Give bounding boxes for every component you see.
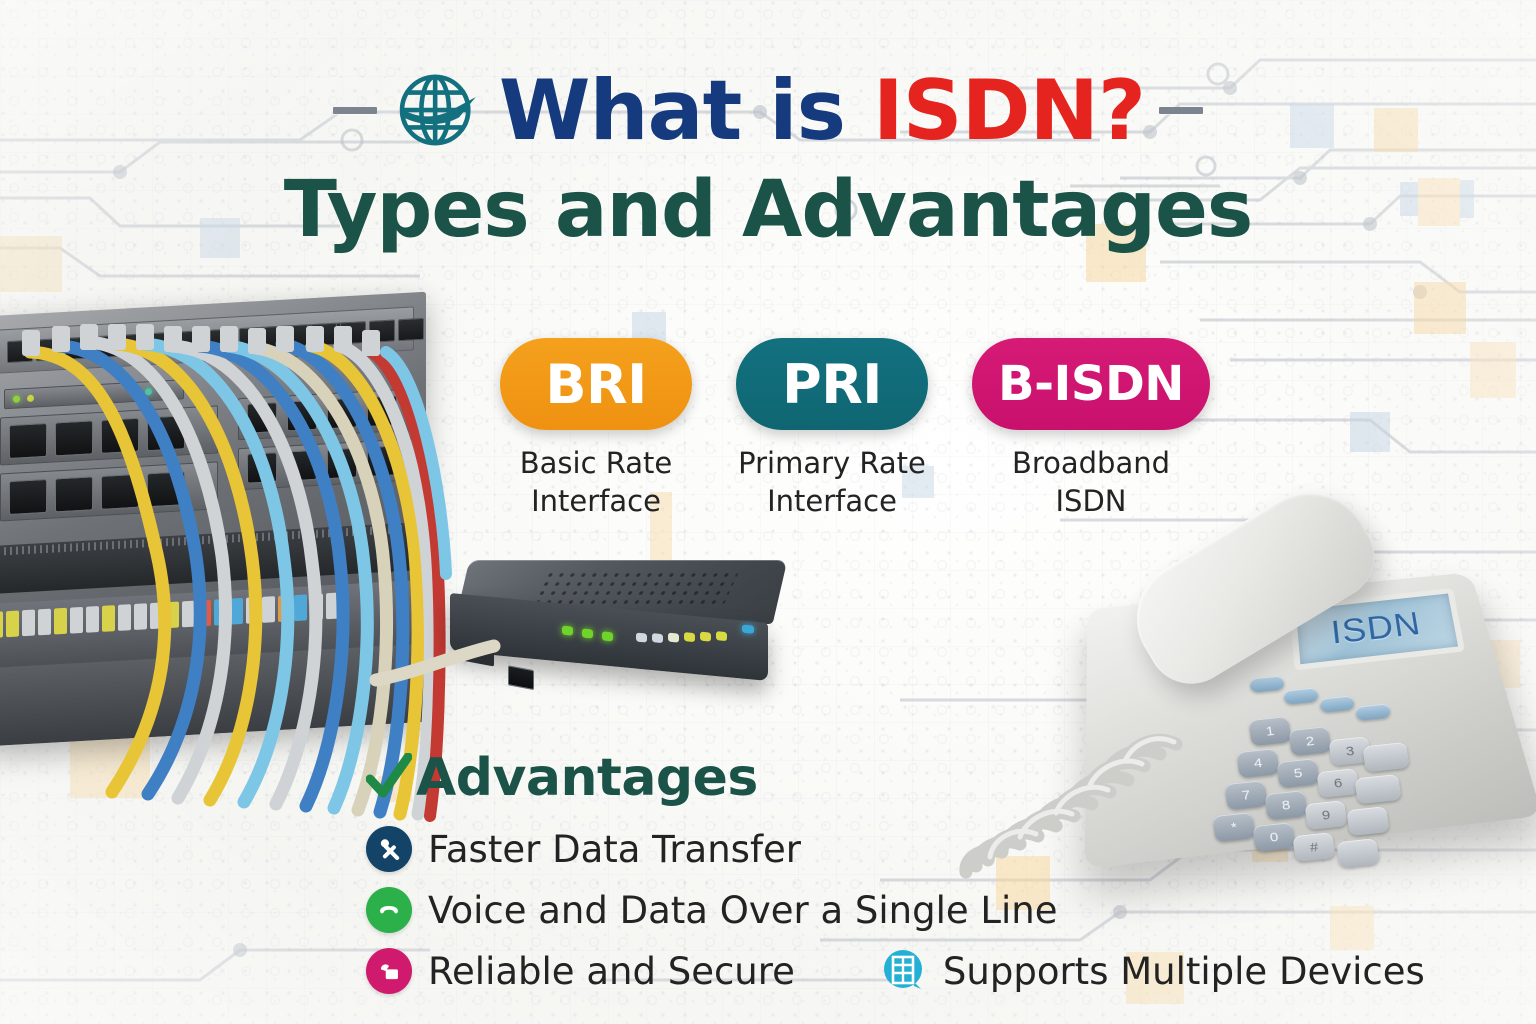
advantage-row-2: Voice and Data Over a Single Line: [366, 887, 1425, 933]
shield-lock-icon: [366, 948, 412, 994]
advantages-section: Advantages Faster Data Transfer: [366, 748, 1425, 994]
type-caption-bisdn: Broadband ISDN: [972, 444, 1210, 521]
page-title-part2: ISDN?: [873, 62, 1145, 159]
decorative-dash-left-icon: [333, 107, 377, 114]
type-card-bisdn[interactable]: B-ISDN Broadband ISDN: [972, 338, 1210, 521]
advantage-item-faster-data-transfer: Faster Data Transfer: [366, 826, 801, 872]
type-card-bri[interactable]: BRI Basic Rate Interface: [500, 338, 692, 521]
advantage-item-reliable-and-secure: Reliable and Secure: [366, 948, 795, 994]
advantage-label-1: Faster Data Transfer: [428, 828, 801, 871]
header: What is ISDN? Types and Advantages: [0, 56, 1536, 252]
phone-lcd-text: ISDN: [1329, 605, 1423, 652]
infographic-canvas: ISDN 1 2 3 4 5 6 7 8 9 * 0 #: [0, 0, 1536, 1024]
type-caption-pri-line1: Primary Rate: [736, 444, 928, 482]
isdn-modem: [448, 560, 792, 702]
isdn-types-row: BRI Basic Rate Interface PRI Primary Rat…: [500, 338, 1210, 521]
type-caption-bri-line2: Interface: [500, 482, 692, 520]
type-caption-bisdn-line2: ISDN: [972, 482, 1210, 520]
phone-handset-icon: [366, 887, 412, 933]
advantages-heading: Advantages: [416, 748, 758, 808]
check-mark-icon: [366, 753, 412, 803]
pill-badge-bri[interactable]: BRI: [500, 338, 692, 430]
type-caption-pri: Primary Rate Interface: [736, 444, 928, 521]
pill-badge-bisdn[interactable]: B-ISDN: [972, 338, 1210, 430]
type-card-pri[interactable]: PRI Primary Rate Interface: [736, 338, 928, 521]
type-caption-bri: Basic Rate Interface: [500, 444, 692, 521]
modem-cable: [382, 628, 502, 688]
phone-key-1[interactable]: 1: [1249, 716, 1292, 746]
data-transfer-icon: [366, 826, 412, 872]
advantages-heading-row: Advantages: [366, 748, 1425, 808]
advantage-label-3: Reliable and Secure: [428, 950, 795, 993]
multi-device-chat-icon: [881, 948, 927, 994]
globe-icon: [391, 64, 483, 156]
page-title: What is ISDN?: [499, 69, 1145, 152]
advantage-label-4: Supports Multiple Devices: [943, 950, 1425, 993]
advantage-item-voice-and-data: Voice and Data Over a Single Line: [366, 887, 1058, 933]
patch-cables: [0, 294, 452, 794]
advantage-row-3: Reliable and Secure Supports Mult: [366, 948, 1425, 994]
decorative-dash-right-icon: [1159, 107, 1203, 114]
pill-badge-pri[interactable]: PRI: [736, 338, 928, 430]
page-title-part1: What is: [499, 62, 873, 159]
advantage-item-supports-multiple-devices: Supports Multiple Devices: [881, 948, 1425, 994]
advantage-label-2: Voice and Data Over a Single Line: [428, 889, 1058, 932]
page-subtitle: Types and Advantages: [0, 170, 1536, 252]
advantages-list: Faster Data Transfer Voice and Data Over…: [366, 826, 1425, 994]
type-caption-pri-line2: Interface: [736, 482, 928, 520]
type-caption-bri-line1: Basic Rate: [500, 444, 692, 482]
type-caption-bisdn-line1: Broadband: [972, 444, 1210, 482]
advantage-row-1: Faster Data Transfer: [366, 826, 1425, 872]
network-patch-panel: [0, 304, 426, 756]
